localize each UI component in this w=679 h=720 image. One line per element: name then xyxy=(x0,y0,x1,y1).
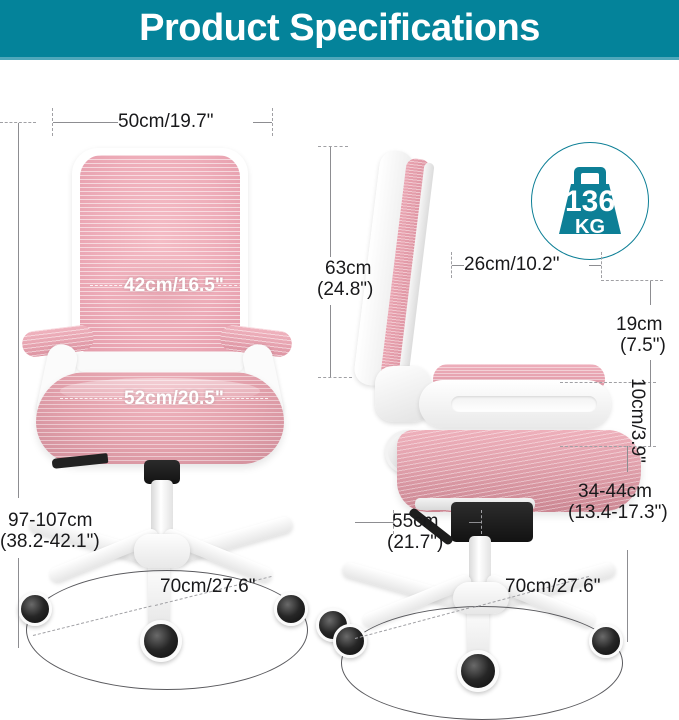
dimension-label-armrest-height: 19cm xyxy=(616,314,662,335)
specifications-diagram: 136 KG xyxy=(0,60,679,656)
dim-line-vertical xyxy=(627,446,628,472)
dim-extension xyxy=(318,377,352,378)
dim-line xyxy=(589,265,601,266)
caster-wheel xyxy=(18,592,52,626)
caster-wheel xyxy=(589,624,623,658)
tilt-mechanism xyxy=(451,502,533,542)
dim-tick xyxy=(481,510,482,534)
caster-wheel xyxy=(333,624,367,658)
dim-line xyxy=(53,122,118,123)
base-hub xyxy=(134,534,190,568)
dimension-label-seat-depth-inches: (21.7") xyxy=(387,532,443,553)
dim-line-vertical xyxy=(650,382,651,446)
dim-line xyxy=(452,265,464,266)
dim-tick xyxy=(272,108,273,136)
dim-line-vertical xyxy=(650,281,651,305)
backrest-lower-bar xyxy=(76,352,244,372)
dim-line xyxy=(253,122,272,123)
dimension-label-armrest-height-inches: (7.5") xyxy=(620,335,666,356)
dim-line-vertical xyxy=(18,558,19,648)
dim-line xyxy=(355,522,393,523)
dim-line-vertical xyxy=(627,550,628,642)
dimension-label-base-diameter-front: 70cm/27.6" xyxy=(160,576,255,597)
armrest-slot xyxy=(451,396,597,412)
dim-line-vertical xyxy=(330,305,331,378)
dimension-label-seat-width: 52cm/20.5" xyxy=(124,388,224,410)
dimension-label-seat-height-inches: (13.4-17.3") xyxy=(568,502,668,523)
dim-line-vertical xyxy=(650,360,651,382)
dim-extension xyxy=(60,398,122,399)
dim-line xyxy=(469,522,481,523)
dim-extension xyxy=(90,285,122,286)
dim-extension xyxy=(222,398,268,399)
dim-line-vertical xyxy=(18,123,19,498)
dim-tick xyxy=(601,252,602,278)
dimension-label-seat-thickness: 10cm/3.9" xyxy=(627,378,648,463)
dimension-label-backrest-height-inches: (24.8") xyxy=(317,279,373,300)
dimension-label-seat-height: 34-44cm xyxy=(578,481,652,502)
dim-extension xyxy=(601,280,663,281)
dim-line-vertical xyxy=(330,147,331,257)
dimension-label-overall-height: 97-107cm xyxy=(8,510,93,531)
side-view-chair xyxy=(345,130,665,650)
header-banner: Product Specifications xyxy=(0,0,679,57)
dimension-label-armrest-length: 26cm/10.2" xyxy=(464,254,559,275)
page-title: Product Specifications xyxy=(139,9,540,47)
dimension-label-seat-depth: 55cm xyxy=(392,511,438,532)
dimension-label-overall-height-inches: (38.2-42.1") xyxy=(0,531,100,552)
dimension-label-backrest-width: 42cm/16.5" xyxy=(124,275,224,297)
caster-wheel xyxy=(274,592,308,626)
dimension-label-backrest-height: 63cm xyxy=(325,258,371,279)
dimension-label-back-width: 50cm/19.7" xyxy=(118,111,213,132)
dimension-label-base-diameter-side: 70cm/27.6" xyxy=(505,576,600,597)
caster-wheel xyxy=(457,650,499,692)
dim-extension xyxy=(318,146,348,147)
